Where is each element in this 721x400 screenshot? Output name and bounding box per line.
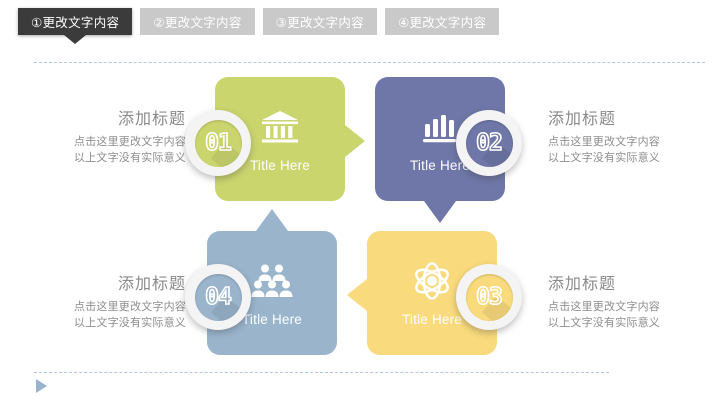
bank-icon — [257, 106, 303, 148]
people-icon — [249, 260, 295, 302]
badge-01[interactable]: 01 — [185, 110, 251, 176]
badge-02[interactable]: 02 — [456, 110, 522, 176]
badge-03[interactable]: 03 — [456, 264, 522, 330]
badge-03-number: 03 — [476, 284, 502, 310]
tab-3-label: ③更改文字内容 — [276, 12, 364, 31]
cycle-diagram: Title Here Title Here — [0, 0, 721, 400]
text-block-01-line2: 以上文字没有实际意义 — [26, 150, 186, 166]
badge-02-inner: 02 — [466, 120, 513, 167]
text-block-03-line2: 以上文字没有实际意义 — [548, 315, 708, 331]
badge-01-inner: 01 — [195, 120, 242, 167]
atom-icon — [409, 260, 455, 302]
text-block-02: 添加标题 点击这里更改文字内容 以上文字没有实际意义 — [548, 105, 708, 166]
text-block-04-line2: 以上文字没有实际意义 — [26, 315, 186, 331]
text-block-04: 添加标题 点击这里更改文字内容 以上文字没有实际意义 — [26, 270, 186, 331]
arrow-tail-down-02 — [424, 201, 456, 223]
arrow-tail-right-01 — [345, 125, 365, 157]
badge-02-number: 02 — [476, 130, 502, 156]
text-block-04-title: 添加标题 — [26, 270, 186, 294]
text-block-03: 添加标题 点击这里更改文字内容 以上文字没有实际意义 — [548, 270, 708, 331]
badge-04[interactable]: 04 — [185, 264, 251, 330]
tab-1[interactable]: ①更改文字内容 — [18, 8, 132, 35]
text-block-03-line1: 点击这里更改文字内容 — [548, 299, 708, 315]
tab-3[interactable]: ③更改文字内容 — [263, 8, 377, 35]
tab-4[interactable]: ④更改文字内容 — [385, 8, 499, 35]
tab-bar: ①更改文字内容 ②更改文字内容 ③更改文字内容 ④更改文字内容 — [18, 8, 499, 35]
arrow-tail-left-03 — [347, 279, 367, 311]
tab-2[interactable]: ②更改文字内容 — [140, 8, 254, 35]
text-block-01-title: 添加标题 — [26, 105, 186, 129]
node-01-title: Title Here — [250, 158, 310, 173]
text-block-02-line2: 以上文字没有实际意义 — [548, 150, 708, 166]
badge-04-inner: 04 — [195, 274, 242, 321]
text-block-04-line1: 点击这里更改文字内容 — [26, 299, 186, 315]
tab-2-label: ②更改文字内容 — [153, 12, 241, 31]
text-block-01: 添加标题 点击这里更改文字内容 以上文字没有实际意义 — [26, 105, 186, 166]
tab-1-label: ①更改文字内容 — [31, 12, 119, 31]
text-block-02-title: 添加标题 — [548, 105, 708, 129]
node-04-title: Title Here — [242, 312, 302, 327]
badge-04-number: 04 — [205, 284, 231, 310]
node-03-title: Title Here — [402, 312, 462, 327]
badge-01-number: 01 — [205, 130, 231, 156]
text-block-02-line1: 点击这里更改文字内容 — [548, 134, 708, 150]
text-block-03-title: 添加标题 — [548, 270, 708, 294]
tab-4-label: ④更改文字内容 — [398, 12, 486, 31]
badge-03-inner: 03 — [466, 274, 513, 321]
text-block-01-line1: 点击这里更改文字内容 — [26, 134, 186, 150]
arrow-tail-up-04 — [256, 209, 288, 231]
